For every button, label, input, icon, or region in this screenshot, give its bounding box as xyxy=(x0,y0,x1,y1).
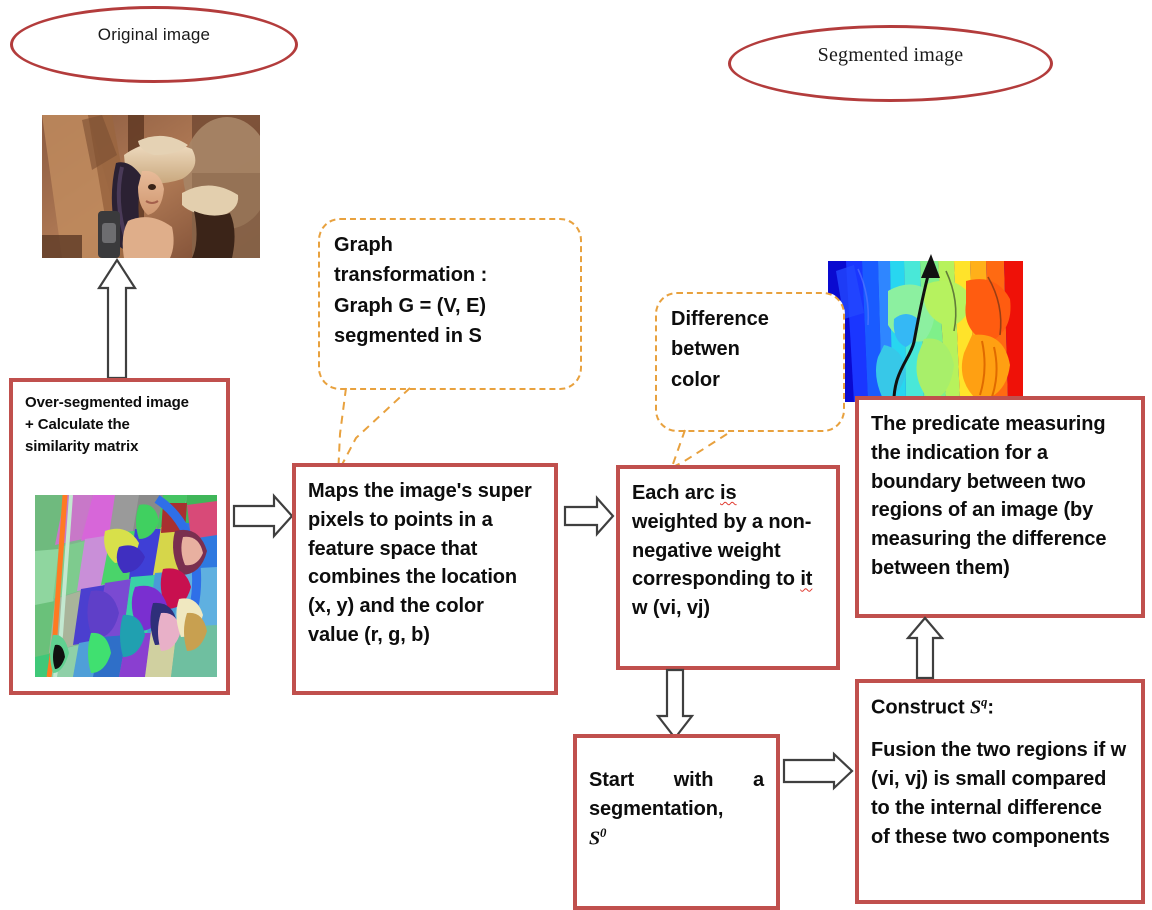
original-image-label-text: Original image xyxy=(98,25,210,45)
arrow-construct-to-predicate xyxy=(903,616,947,680)
arrow-arc-to-start xyxy=(653,668,697,740)
box-predicate-line-3: boundary between two xyxy=(871,468,1129,497)
box-construct-heading-prefix: Construct xyxy=(871,697,970,719)
segmented-image-label-text: Segmented image xyxy=(818,44,964,67)
box-construct-sq: Construct Sq: Fusion the two regions if … xyxy=(855,679,1145,904)
box-arc-line-2: weighted by a non- xyxy=(632,508,824,537)
box-predicate-measuring: The predicate measuring the indication f… xyxy=(855,396,1145,618)
box-predicate-text: The predicate measuring the indication f… xyxy=(871,410,1129,583)
original-photo-image xyxy=(42,115,260,258)
arrow-right-block-icon xyxy=(563,496,615,536)
flowchart-canvas: Original image Segmented image xyxy=(0,0,1152,910)
box-arc-line-1: Each arc is xyxy=(632,479,824,508)
arrow-maps-to-arc xyxy=(563,496,615,536)
box-over-segmented-line-3: similarity matrix xyxy=(25,436,214,458)
box-start-segmentation: Start with a segmentation, S0 xyxy=(573,734,780,910)
arrow-oversegmented-to-original xyxy=(95,258,139,380)
arrow-oversegmented-to-maps xyxy=(232,494,294,538)
box-predicate-line-2: the indication for a xyxy=(871,439,1129,468)
callout-graph-text: Graph transformation : Graph G = (V, E) … xyxy=(334,230,566,352)
box-over-segmented-text: Over-segmented image + Calculate the sim… xyxy=(25,392,214,457)
callout-difference-between-color: Difference betwen color xyxy=(655,292,845,432)
callout-difference-line-2: betwen xyxy=(671,334,829,364)
oversegmented-photo-image xyxy=(35,495,217,677)
box-start-word-1: Start xyxy=(589,766,634,795)
box-over-segmented-image: Over-segmented image + Calculate the sim… xyxy=(9,378,230,695)
box-maps-line-5: (x, y) and the color xyxy=(308,592,542,621)
box-maps-text: Maps the image's super pixels to points … xyxy=(308,477,542,650)
box-maps-line-6: value (r, g, b) xyxy=(308,621,542,650)
box-start-word-3: a xyxy=(753,766,764,795)
box-over-segmented-line-1: Over-segmented image xyxy=(25,392,214,414)
misspelled-word-it: it xyxy=(800,568,812,590)
box-maps-line-2: pixels to points in a xyxy=(308,506,542,535)
box-construct-heading-suffix: : xyxy=(987,697,994,719)
box-construct-heading: Construct Sq: xyxy=(871,693,1129,722)
arrow-down-block-icon xyxy=(653,668,697,740)
original-photo-svg xyxy=(42,115,260,258)
box-predicate-line-4: regions of an image (by xyxy=(871,496,1129,525)
box-start-line-2: segmentation, xyxy=(589,795,764,824)
box-arc-line-5: w (vi, vj) xyxy=(632,594,824,623)
box-maps-line-1: Maps the image's super xyxy=(308,477,542,506)
box-maps-line-3: feature space that xyxy=(308,535,542,564)
node-segmented-image-label: Segmented image xyxy=(728,25,1053,102)
box-predicate-line-5: measuring the difference xyxy=(871,525,1129,554)
callout-difference-text: Difference betwen color xyxy=(671,304,829,395)
arrow-up-block-icon xyxy=(903,616,947,680)
node-original-image-label: Original image xyxy=(10,6,298,83)
arrow-right-block-icon xyxy=(782,752,854,790)
box-start-text: Start with a segmentation, S0 xyxy=(589,748,764,853)
box-arc-line-3: negative weight xyxy=(632,537,824,566)
arrow-start-to-construct xyxy=(782,752,854,790)
arrow-up-block-icon xyxy=(95,258,139,380)
box-start-line-1: Start with a xyxy=(589,766,764,795)
curved-arrow-icon xyxy=(890,250,960,410)
box-arc-weight: Each arc is weighted by a non- negative … xyxy=(616,465,840,670)
symbol-s-superscript: 0 xyxy=(600,826,606,840)
arrow-predicate-to-segmented xyxy=(890,250,960,410)
callout-graph-line-1: Graph xyxy=(334,230,566,260)
box-construct-line-3: to the internal difference xyxy=(871,794,1129,823)
box-construct-line-2: (vi, vj) is small compared xyxy=(871,765,1129,794)
box-arc-text: Each arc is weighted by a non- negative … xyxy=(632,479,824,623)
box-start-line-3: S0 xyxy=(589,824,764,853)
box-predicate-line-1: The predicate measuring xyxy=(871,410,1129,439)
callout-difference-line-3: color xyxy=(671,365,829,395)
box-construct-line-1: Fusion the two regions if w xyxy=(871,736,1129,765)
box-arc-line-4: corresponding to it xyxy=(632,565,824,594)
box-maps-superpixels: Maps the image's super pixels to points … xyxy=(292,463,558,695)
box-construct-text: Construct Sq: Fusion the two regions if … xyxy=(871,693,1129,852)
misspelled-word-is: is xyxy=(720,482,736,504)
symbol-sq-base: S xyxy=(970,697,981,719)
box-start-word-2: with xyxy=(674,766,714,795)
callout-graph-line-4: segmented in S xyxy=(334,321,566,351)
box-predicate-line-6: between them) xyxy=(871,554,1129,583)
box-construct-spacer xyxy=(871,722,1129,736)
box-maps-line-4: combines the location xyxy=(308,563,542,592)
oversegmented-photo-svg xyxy=(35,495,217,677)
callout-graph-transformation: Graph transformation : Graph G = (V, E) … xyxy=(318,218,582,390)
callout-graph-line-3: Graph G = (V, E) xyxy=(334,291,566,321)
arrow-right-block-icon xyxy=(232,494,294,538)
box-construct-line-4: of these two components xyxy=(871,823,1129,852)
callout-difference-line-1: Difference xyxy=(671,304,829,334)
symbol-s-base: S xyxy=(589,827,600,849)
box-over-segmented-line-2: + Calculate the xyxy=(25,414,214,436)
callout-graph-line-2: transformation : xyxy=(334,260,566,290)
